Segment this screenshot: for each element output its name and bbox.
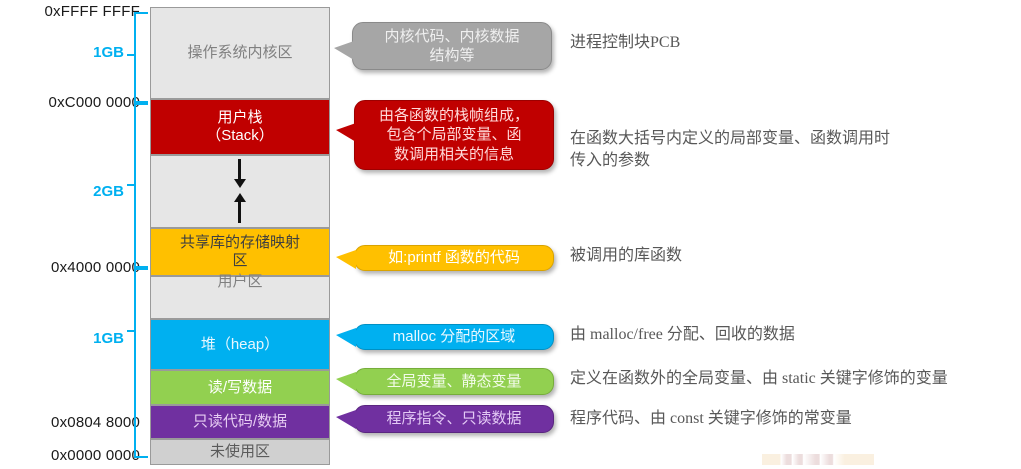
address-label-c0000000: 0xC000 0000 (0, 94, 140, 111)
memory-block-read-only-code-data[interactable]: 只读代码/数据 (150, 405, 330, 439)
memory-block-user-area[interactable]: 用户区 (150, 276, 330, 319)
explanation-heap: 由 malloc/free 分配、回收的数据 (570, 324, 1015, 346)
callout-text: 如:printf 函数的代码 (388, 248, 520, 267)
explanation-read-only-data: 程序代码、由 const 关键字修饰的常变量 (570, 408, 1015, 430)
callout-text: 由各函数的栈帧组成， 包含个局部变量、函 数调用相关的信息 (379, 106, 529, 164)
callout-shared-library[interactable]: 如:printf 函数的代码 (354, 245, 554, 271)
callout-text: 全局变量、静态变量 (386, 372, 521, 391)
callout-tail-icon (336, 410, 356, 429)
callout-read-write-data[interactable]: 全局变量、静态变量 (354, 368, 554, 395)
memory-block-label: 用户区 (213, 273, 266, 291)
bracket-kernel-region (134, 12, 148, 103)
address-label-ffffffff: 0xFFFF FFFF (0, 3, 140, 20)
memory-block-read-write-data[interactable]: 读/写数据 (150, 370, 330, 405)
callout-stack[interactable]: 由各函数的栈帧组成， 包含个局部变量、函 数调用相关的信息 (354, 100, 554, 170)
callout-tail-icon (336, 123, 356, 142)
memory-block-kernel[interactable]: 操作系统内核区 (150, 7, 330, 99)
explanation-read-write-data: 定义在函数外的全局变量、由 static 关键字修饰的变量 (570, 368, 1020, 390)
address-label-08048000: 0x0804 8000 (0, 414, 140, 431)
memory-block-label: 用户栈 （Stack） (202, 109, 278, 144)
explanation-stack: 在函数大括号内定义的局部变量、函数调用时 传入的参数 (570, 128, 1015, 172)
memory-block-label: 读/写数据 (204, 379, 276, 397)
memory-block-stack[interactable]: 用户栈 （Stack） (150, 99, 330, 155)
explanation-kernel: 进程控制块PCB (570, 32, 1015, 54)
bracket-user-region (134, 103, 148, 268)
bracket-tick (127, 54, 136, 56)
memory-block-shared-library-mapping[interactable]: 共享库的存储映射 区 (150, 228, 330, 276)
callout-tail-icon (336, 372, 356, 391)
callout-text: 程序指令、只读数据 (386, 409, 521, 428)
callout-tail-icon (336, 328, 356, 347)
memory-block-label: 共享库的存储映射 区 (176, 234, 304, 269)
memory-block-unused[interactable]: 未使用区 (150, 439, 330, 465)
size-label-user-2gb: 2GB (0, 183, 124, 200)
bracket-tick (127, 184, 136, 186)
arrow-head-down-icon (234, 179, 246, 188)
memory-block-label: 未使用区 (206, 443, 274, 461)
arrow-shaft (238, 159, 241, 180)
memory-block-label: 操作系统内核区 (183, 44, 296, 62)
callout-kernel[interactable]: 内核代码、内核数据 结构等 (352, 22, 552, 70)
callout-heap[interactable]: malloc 分配的区域 (354, 324, 554, 350)
callout-tail-icon (334, 41, 354, 60)
explanation-shared-library: 被调用的库函数 (570, 245, 1015, 267)
bracket-tick (127, 330, 136, 332)
callout-read-only-data[interactable]: 程序指令、只读数据 (354, 405, 554, 433)
bracket-low-region (134, 268, 148, 458)
size-label-kernel-1gb: 1GB (0, 44, 124, 61)
memory-block-label: 只读代码/数据 (189, 413, 291, 431)
memory-block-heap[interactable]: 堆（heap） (150, 319, 330, 370)
address-label-00000000: 0x0000 0000 (0, 447, 140, 464)
callout-tail-icon (336, 250, 356, 269)
memory-block-label: 堆（heap） (197, 336, 283, 354)
callout-text: malloc 分配的区域 (393, 327, 516, 346)
arrow-shaft (238, 201, 241, 223)
address-label-40000000: 0x4000 0000 (0, 259, 140, 276)
memory-layout-column: 操作系统内核区 用户栈 （Stack） 共享库的存储映射 区 用户区 堆（hea… (150, 7, 330, 462)
size-label-low-1gb: 1GB (0, 330, 124, 347)
watermark (762, 454, 874, 465)
callout-text: 内核代码、内核数据 结构等 (384, 27, 519, 65)
